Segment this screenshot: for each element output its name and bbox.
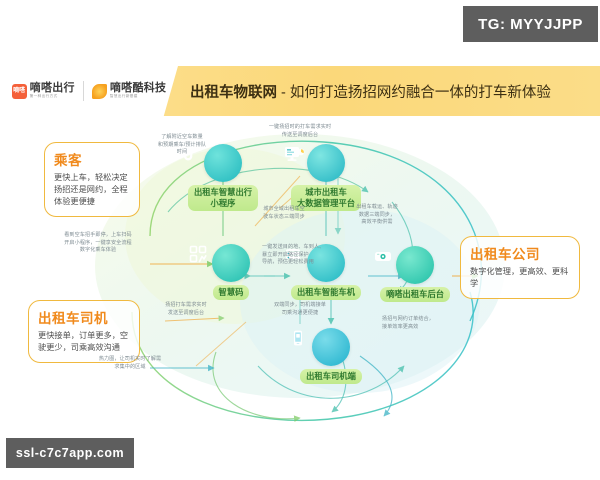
- didaku-logo-icon: [92, 84, 107, 99]
- role-title-passenger: 乘客: [54, 149, 130, 169]
- logo-didaku: 嘀嗒酷科技 智慧出行新基建: [92, 83, 167, 99]
- logo-plate: 嘀嗒 嘀嗒出行 第一种出行方式 嘀嗒酷科技 智慧出行新基建: [0, 66, 178, 116]
- page-title-strong: 出租车物联网: [190, 85, 277, 101]
- annotation-capacity-track-sync: 出租车载运、轨迹 数据三端同步， 高效平衡供需: [344, 204, 410, 227]
- logo-didatrip: 嘀嗒 嘀嗒出行 第一种出行方式: [12, 83, 75, 99]
- node-label-backend: 嘀嗒出租车后台: [380, 287, 450, 302]
- dida-logo-icon: 嘀嗒: [12, 84, 27, 99]
- role-desc-passenger: 更快上车，轻松决定扬招还是网约，全程体验更便捷: [54, 172, 130, 208]
- site-watermark: ssl-c7c7app.com: [6, 438, 134, 468]
- page-title: 出租车物联网 - 如何打造扬招网约融合一体的打车新体验: [178, 81, 600, 102]
- node-label-obu: 出租车智能车机: [291, 285, 361, 300]
- node-label-miniprogram: 出租车智慧出行 小程序: [188, 185, 258, 211]
- node-bigdata-platform: 城市出租车 大数据管理平台: [283, 144, 369, 211]
- node-label-qr: 智慧码: [213, 285, 250, 300]
- annotation-nearby-empty-cars: 了解附近空车数量 和预期乘车/预计排队 时间: [148, 134, 216, 157]
- logo-didaku-name: 嘀嗒酷科技: [110, 83, 167, 94]
- role-title-company: 出租车公司: [470, 243, 570, 263]
- page-title-rest: - 如何打造扬招网约融合一体的打车新体验: [277, 85, 551, 101]
- annotation-heatmap: 热力图，让司机实时了解需 求集中的区域: [64, 356, 196, 371]
- logo-didaku-sub: 智慧出行新基建: [110, 95, 167, 99]
- annotation-city-empty-status-sync: 城市全域出租车空 驶车状态三端同步: [252, 206, 316, 221]
- role-title-driver: 出租车司机: [38, 307, 130, 327]
- annotation-one-click-order: 一键发送目的地、车到人、 暴立即开启路径保护 导航，预估更轻松费用: [262, 244, 348, 267]
- screenshot-root: TG: MYYJJPP 嘀嗒 嘀嗒出行 第一种出行方式 嘀嗒酷科技 智慧出行新基…: [0, 0, 600, 480]
- mobile-phone-icon: [312, 328, 350, 366]
- logo-didaku-text: 嘀嗒酷科技 智慧出行新基建: [110, 83, 167, 99]
- taxi-iot-diagram: 乘客 更快上车，轻松决定扬招还是网约，全程体验更便捷 出租车司机 更快接单，订单…: [0, 116, 600, 436]
- role-card-driver: 出租车司机 更快接单，订单更多，空驶更少，司乘高效沟通: [28, 300, 140, 363]
- annotation-order-combo: 扬招与网约订单结合， 接单效率更高效: [382, 316, 444, 331]
- annotation-send-demand-to-backend: 扬招打车需求实时 发送至调度后台: [150, 302, 222, 317]
- role-card-passenger: 乘客 更快上车，轻松决定扬招还是网约，全程体验更便捷: [44, 142, 140, 217]
- logo-didatrip-text: 嘀嗒出行 第一种出行方式: [30, 83, 75, 99]
- infographic-header: 嘀嗒 嘀嗒出行 第一种出行方式 嘀嗒酷科技 智慧出行新基建 出租车物联网 - 如…: [0, 66, 600, 116]
- cloud-server-icon: [396, 246, 434, 284]
- role-desc-company: 数字化管理，更高效、更科学: [470, 266, 570, 290]
- qr-code-icon: [212, 244, 250, 282]
- annotation-dual-screen-nav: 双端同步，司机端接单 司乘沟通更便捷: [258, 302, 342, 317]
- annotation-realtime-demand-upload: 一键扬招时的打车需求实时 传送至调度后台: [252, 124, 348, 139]
- dashboard-monitor-icon: [307, 144, 345, 182]
- annotation-wave-and-scan: 看到空车招手即停，上车扫码 开启小程序，一键享安全流程 数字化乘车体验: [32, 232, 164, 255]
- logo-didatrip-sub: 第一种出行方式: [30, 95, 75, 99]
- tg-watermark: TG: MYYJJPP: [463, 6, 598, 42]
- logo-didatrip-name: 嘀嗒出行: [30, 83, 75, 94]
- node-driver-app: 出租车司机端: [288, 328, 374, 384]
- role-card-company: 出租车公司 数字化管理，更高效、更科学: [460, 236, 580, 299]
- node-label-driverapp: 出租车司机端: [300, 369, 362, 384]
- logo-divider: [83, 81, 84, 101]
- node-dida-backend: 嘀嗒出租车后台: [372, 246, 458, 302]
- role-desc-driver: 更快接单，订单更多，空驶更少，司乘高效沟通: [38, 330, 130, 354]
